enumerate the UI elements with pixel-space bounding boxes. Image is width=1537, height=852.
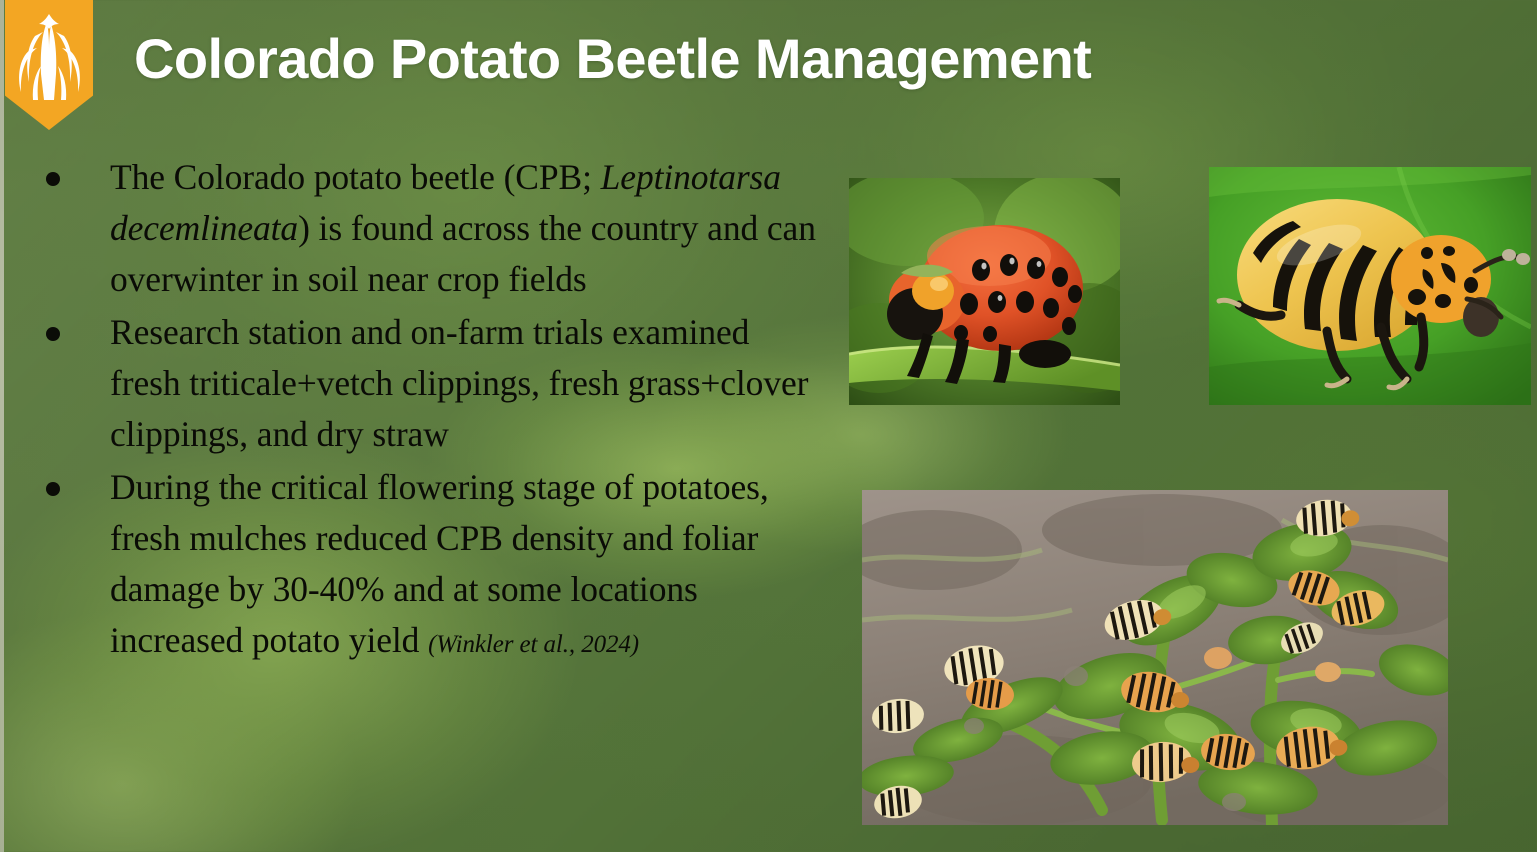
list-item: During the critical flowering stage of p… bbox=[36, 462, 826, 670]
bullet-dot-icon bbox=[46, 172, 60, 186]
bullet-3-text: During the critical flowering stage of p… bbox=[60, 462, 826, 670]
cpb-infested-potato-plant-photo bbox=[862, 490, 1448, 825]
bullet-dot-icon bbox=[46, 327, 60, 341]
bullet-1-seg-1: The Colorado potato beetle (CPB; bbox=[110, 157, 601, 197]
cpb-larva-photo bbox=[849, 178, 1120, 405]
bullet-2-text: Research station and on-farm trials exam… bbox=[60, 307, 826, 460]
left-edge-strip bbox=[0, 0, 4, 852]
list-item: The Colorado potato beetle (CPB; Leptino… bbox=[36, 152, 826, 305]
bullet-3-citation: (Winkler et al., 2024) bbox=[428, 631, 639, 658]
slide-canvas: Colorado Potato Beetle Management The Co… bbox=[0, 0, 1537, 852]
page-title: Colorado Potato Beetle Management bbox=[134, 26, 1091, 91]
cpb-adult-photo bbox=[1209, 167, 1531, 405]
list-item: Research station and on-farm trials exam… bbox=[36, 307, 826, 460]
bullet-1-text: The Colorado potato beetle (CPB; Leptino… bbox=[60, 152, 826, 305]
bullet-dot-icon bbox=[46, 482, 60, 496]
bullet-2-seg-1: Research station and on-farm trials exam… bbox=[110, 312, 808, 454]
bullet-list: The Colorado potato beetle (CPB; Leptino… bbox=[36, 152, 826, 672]
